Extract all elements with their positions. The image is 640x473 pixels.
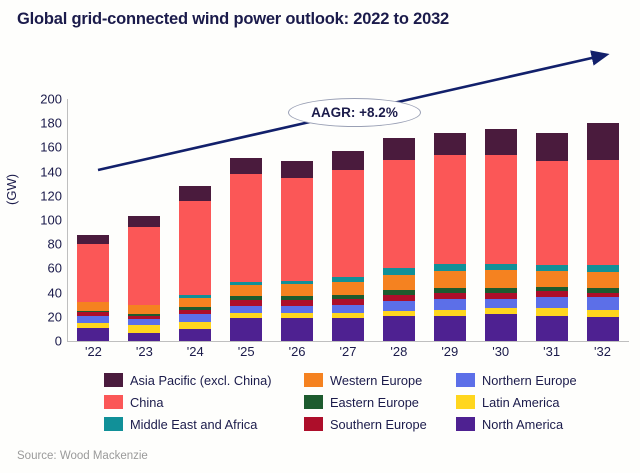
x-axis-tick-26: '26 [272,344,323,364]
y-axis-label: (GW) [4,174,19,205]
bar-segment[interactable] [434,316,466,341]
bar-segment[interactable] [434,271,466,288]
bar-segment[interactable] [128,325,160,332]
bar-segment[interactable] [179,329,211,341]
page-title: Global grid-connected wind power outlook… [17,10,449,29]
y-axis-tick-0: 0 [20,334,62,349]
legend-swatch-icon [456,417,475,431]
bar-segment[interactable] [281,161,313,178]
legend-item-label: North America [482,417,563,432]
stacked-bar[interactable] [179,186,211,341]
y-axis-tick-20: 20 [20,309,62,324]
bar-segment[interactable] [485,155,517,264]
bar-segment[interactable] [281,284,313,296]
legend-item[interactable]: Southern Europe [304,417,456,432]
bar-segment[interactable] [536,308,568,315]
stacked-bar[interactable] [383,138,415,341]
bar-segment[interactable] [179,298,211,308]
legend-swatch-icon [304,395,323,409]
bar-column-30[interactable] [475,99,526,341]
bar-segment[interactable] [77,235,109,245]
bar-segment[interactable] [587,160,619,265]
bar-segment[interactable] [536,161,568,265]
bar-segment[interactable] [332,282,364,295]
stacked-bar-series-group [68,99,628,341]
stacked-bar[interactable] [332,151,364,341]
y-axis-tick-160: 160 [20,140,62,155]
bar-segment[interactable] [128,305,160,315]
bar-segment[interactable] [77,316,109,323]
legend-swatch-icon [304,417,323,431]
bar-segment[interactable] [587,310,619,317]
legend-item[interactable]: Latin America [456,395,612,410]
bar-segment[interactable] [536,271,568,287]
legend-swatch-icon [456,373,475,387]
bar-segment[interactable] [536,316,568,341]
bar-segment[interactable] [434,264,466,271]
y-axis-tick-180: 180 [20,116,62,131]
bar-segment[interactable] [587,265,619,272]
legend-swatch-icon [456,395,475,409]
bar-segment[interactable] [536,133,568,161]
bar-segment[interactable] [281,318,313,341]
bar-segment[interactable] [332,305,364,313]
bar-segment[interactable] [383,316,415,341]
bar-segment[interactable] [128,216,160,227]
bar-segment[interactable] [77,328,109,341]
x-axis-tick-22: '22 [68,344,119,364]
bar-segment[interactable] [536,297,568,308]
legend-item-label: Western Europe [330,373,422,388]
stacked-bar[interactable] [587,123,619,341]
bar-segment[interactable] [281,178,313,281]
x-axis-tick-32: '32 [577,344,628,364]
bar-segment[interactable] [230,285,262,296]
bar-segment[interactable] [587,123,619,159]
source-caption: Source: Wood Mackenzie [17,450,148,462]
legend-item[interactable]: Eastern Europe [304,395,456,410]
x-axis-tick-31: '31 [526,344,577,364]
bar-segment[interactable] [434,299,466,310]
bar-segment[interactable] [77,302,109,310]
y-axis-tick-100: 100 [20,213,62,228]
bar-segment[interactable] [434,133,466,155]
bar-segment[interactable] [179,314,211,321]
x-axis-tick-labels: '22'23'24'25'26'27'28'29'30'31'32 [68,344,628,364]
x-axis-tick-27: '27 [323,344,374,364]
bar-segment[interactable] [230,174,262,282]
bar-segment[interactable] [485,314,517,341]
legend-swatch-icon [304,373,323,387]
legend-item[interactable]: Western Europe [304,373,456,388]
stacked-bar[interactable] [230,158,262,341]
bar-column-29[interactable] [424,99,475,341]
legend-swatch-icon [104,395,123,409]
aagr-annotation-label: AAGR: +8.2% [311,105,398,120]
bar-column-24[interactable] [170,99,221,341]
legend-swatch-icon [104,373,123,387]
bar-segment[interactable] [485,299,517,309]
y-axis-tick-labels: 200180160140120100806040200 [14,0,62,473]
legend-item[interactable]: North America [456,417,612,432]
stacked-bar[interactable] [281,161,313,341]
bar-segment[interactable] [128,333,160,341]
bar-segment[interactable] [587,317,619,341]
legend-item[interactable]: Northern Europe [456,373,612,388]
bar-segment[interactable] [281,306,313,313]
bar-segment[interactable] [332,170,364,276]
bar-segment[interactable] [179,186,211,201]
bar-column-31[interactable] [526,99,577,341]
stacked-bar[interactable] [434,133,466,341]
stacked-bar[interactable] [77,235,109,341]
bar-column-32[interactable] [577,99,628,341]
x-axis-tick-24: '24 [170,344,221,364]
legend-item[interactable]: Middle East and Africa [104,417,304,432]
legend-item-label: Eastern Europe [330,395,419,410]
bar-segment[interactable] [587,297,619,309]
x-axis-tick-28: '28 [373,344,424,364]
legend-item-label: Middle East and Africa [130,417,257,432]
stacked-bar[interactable] [128,216,160,341]
legend-item[interactable]: Asia Pacific (excl. China) [104,373,304,388]
aagr-annotation-badge: AAGR: +8.2% [288,98,421,127]
legend-swatch-icon [104,417,123,431]
bar-segment[interactable] [77,244,109,302]
legend-item[interactable]: China [104,395,304,410]
stacked-bar[interactable] [485,129,517,341]
legend-item-label: Latin America [482,395,560,410]
bar-column-23[interactable] [119,99,170,341]
bar-segment[interactable] [332,151,364,170]
x-axis-line [67,341,629,342]
x-axis-tick-25: '25 [221,344,272,364]
bar-column-22[interactable] [68,99,119,341]
bar-segment[interactable] [485,270,517,288]
chart-legend: Asia Pacific (excl. China)Western Europe… [104,369,612,435]
bar-segment[interactable] [485,129,517,154]
legend-item-label: Southern Europe [330,417,427,432]
bar-segment[interactable] [230,318,262,341]
bar-segment[interactable] [383,138,415,160]
bar-segment[interactable] [383,301,415,311]
bar-column-27[interactable] [323,99,374,341]
y-axis-tick-200: 200 [20,92,62,107]
bar-column-25[interactable] [221,99,272,341]
bar-segment[interactable] [434,155,466,264]
bar-column-26[interactable] [272,99,323,341]
bar-segment[interactable] [230,158,262,174]
legend-item-label: China [130,395,163,410]
bar-column-28[interactable] [373,99,424,341]
x-axis-tick-29: '29 [424,344,475,364]
bar-segment[interactable] [332,318,364,341]
bar-segment[interactable] [587,272,619,288]
y-axis-tick-120: 120 [20,188,62,203]
y-axis-tick-80: 80 [20,237,62,252]
bar-segment[interactable] [179,201,211,295]
y-axis-tick-140: 140 [20,164,62,179]
x-axis-tick-30: '30 [475,344,526,364]
bar-segment[interactable] [128,227,160,304]
bar-segment[interactable] [179,322,211,329]
stacked-bar[interactable] [536,133,568,341]
bar-segment[interactable] [383,275,415,291]
x-axis-tick-23: '23 [119,344,170,364]
y-axis-tick-40: 40 [20,285,62,300]
y-axis-tick-60: 60 [20,261,62,276]
legend-item-label: Asia Pacific (excl. China) [130,373,272,388]
bar-segment[interactable] [230,306,262,313]
bar-segment[interactable] [383,160,415,269]
legend-item-label: Northern Europe [482,373,577,388]
